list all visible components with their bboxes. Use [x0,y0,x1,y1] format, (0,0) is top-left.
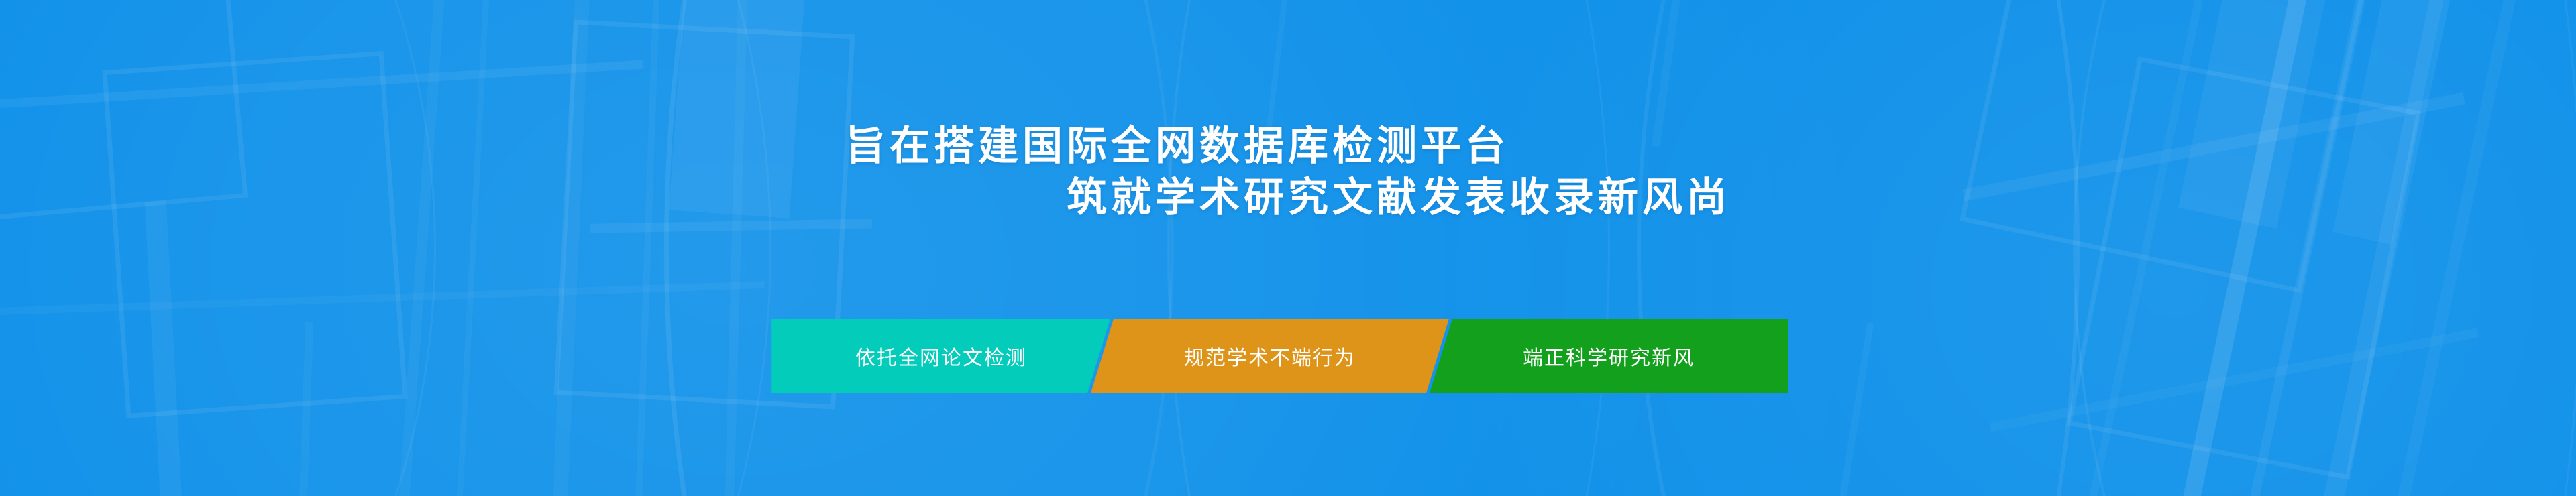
concentric-arc-right-3 [1167,0,2576,496]
slash-right-horizontal-2 [1989,328,2478,432]
circuit-rect-right-2 [2067,56,2422,480]
slash-left-2 [0,281,765,316]
rib-3 [549,0,593,496]
accent-slash-3 [1836,322,1874,496]
radial-glow-left [0,0,1878,496]
rib-5 [722,0,749,496]
concentric-arc-3 [0,0,1174,496]
concentric-arc-right-4 [664,0,2576,496]
circuit-rect-left-2 [102,51,407,418]
concentric-arc-6 [0,0,2576,496]
concentric-arc-right-2 [1637,0,2576,496]
background-decoration [0,0,2576,496]
concentric-arc-5 [0,0,2080,496]
feature-tag-misconduct[interactable]: 规范学术不端行为 [1091,319,1449,393]
concentric-arc-1 [0,0,436,496]
radial-glow-right [1436,0,2576,496]
slash-right-2 [2228,0,2383,496]
concentric-arc-7 [0,0,2576,496]
feature-tag-research-ethos-label: 端正科学研究新风 [1523,341,1695,371]
slash-left-1 [0,60,643,109]
rib-4 [633,0,663,496]
headline-line-2: 筑就学术研究文献发表收录新风尚 [221,172,2576,224]
rib-2 [452,0,493,496]
headline-block: 旨在搭建国际全网数据库检测平台 筑就学术研究文献发表收录新风尚 [0,121,2576,224]
promo-banner: 旨在搭建国际全网数据库检测平台 筑就学术研究文献发表收录新风尚 依托全网论文检测… [0,0,2576,496]
rib-1 [392,0,450,496]
slash-right-4 [2375,0,2534,496]
concentric-arc-2 [0,0,771,496]
slash-right-1 [2161,0,2324,496]
concentric-arc-right-1 [2073,0,2576,496]
slash-right-5 [2067,0,2221,496]
slash-right-3 [2302,0,2468,496]
feature-tag-research-ethos[interactable]: 端正科学研究新风 [1430,319,1788,393]
feature-tag-misconduct-label: 规范学术不端行为 [1184,341,1356,371]
concentric-arc-4 [0,0,1610,496]
circuit-block-left-3 [145,200,183,496]
accent-slash-4 [299,322,313,496]
feature-tag-detection-label: 依托全网论文检测 [855,341,1027,371]
headline-line-1: 旨在搭建国际全网数据库检测平台 [0,121,2576,172]
feature-tag-strip: 依托全网论文检测 规范学术不端行为 端正科学研究新风 [784,319,1776,393]
feature-tag-detection[interactable]: 依托全网论文检测 [772,319,1110,393]
